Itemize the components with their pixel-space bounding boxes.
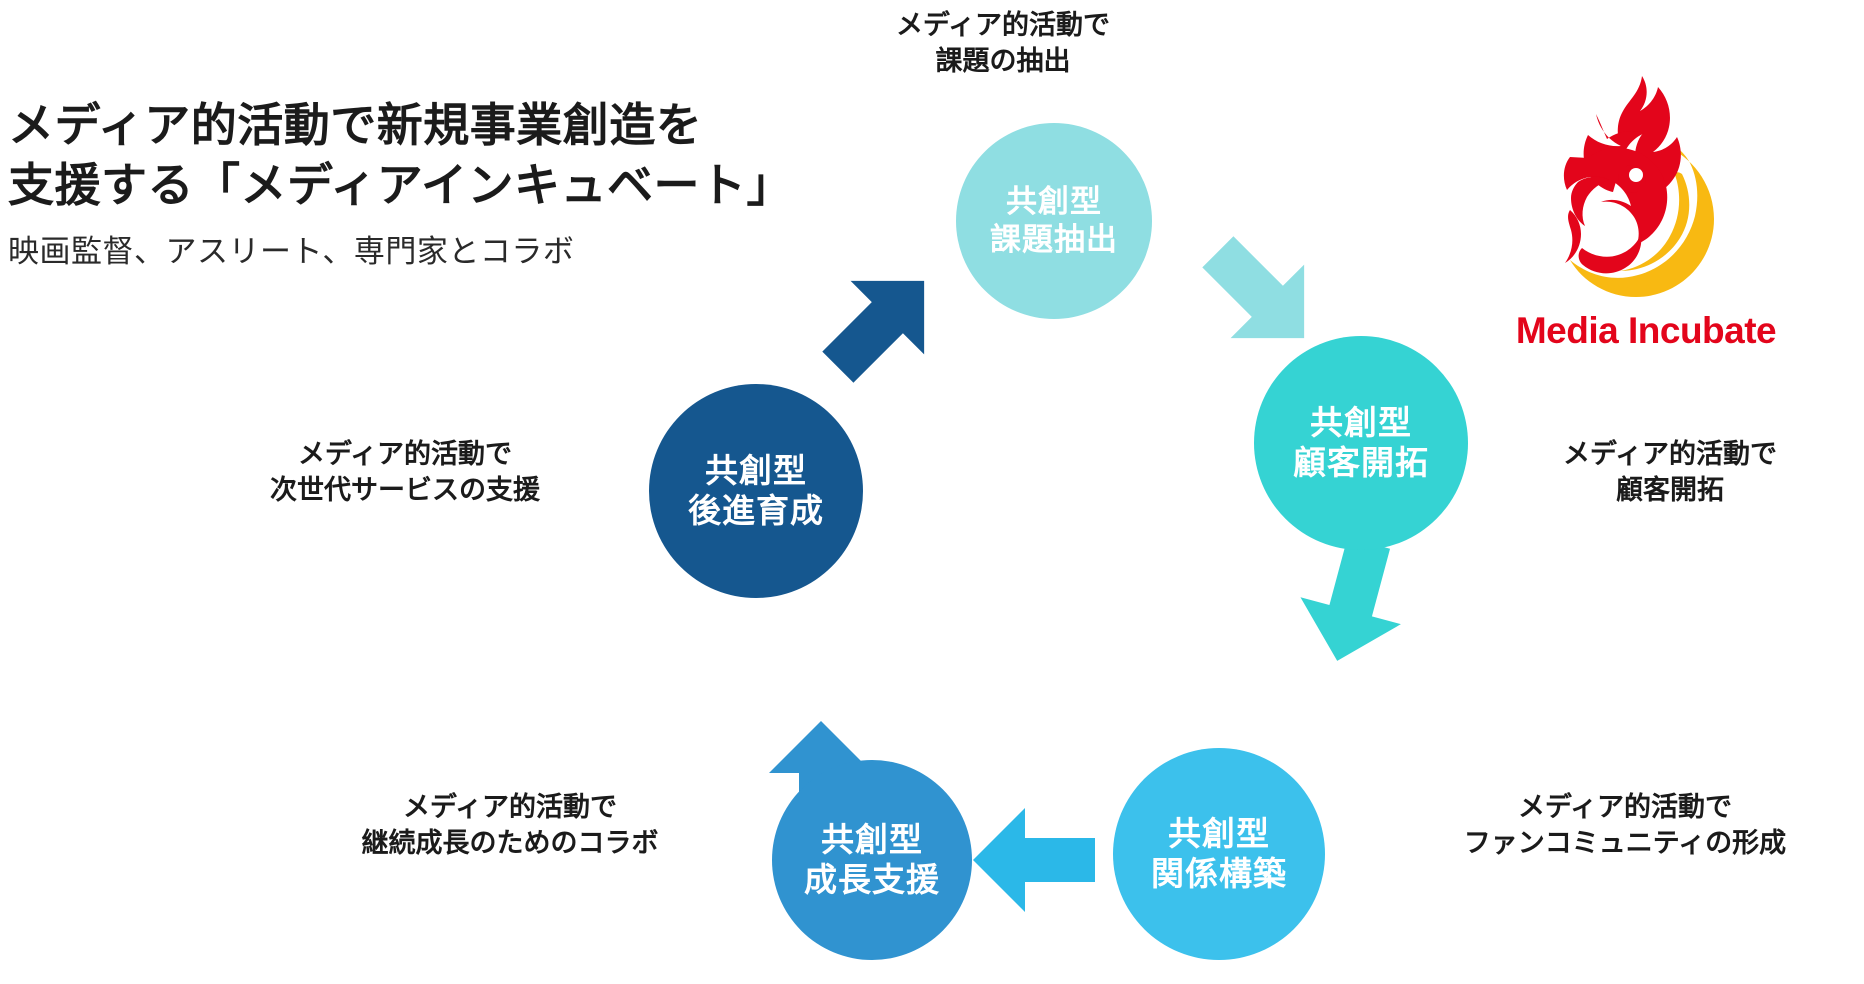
arrow-customer-to-relation [1287,530,1419,675]
arrow-relation-to-growth [973,808,1095,912]
caption-issue-line2: 課題の抽出 [778,44,1228,80]
cycle-node-customer[interactable]: 共創型 顧客開拓 [1254,336,1468,550]
node-customer-line1: 共創型 [1310,403,1412,443]
page-title-line-1: メディア的活動で新規事業創造を [8,96,908,156]
caption-relation-line1: メディア的活動で [1390,790,1860,826]
page-title-line-2: 支援する「メディアインキュベート」 [8,156,908,216]
caption-mentoring-line2: 次世代サービスの支援 [170,473,640,509]
node-relation-line1: 共創型 [1168,814,1270,854]
node-mentoring-line2: 後進育成 [688,491,824,531]
brand-logo: Media Incubate [1486,62,1806,362]
page-subtitle: 映画監督、アスリート、専門家とコラボ [8,232,908,272]
logo-wordmark: Media Incubate [1486,310,1806,352]
caption-growth: メディア的活動で 継続成長のためのコラボ [260,790,760,862]
rooster-flame-icon [1522,62,1770,310]
caption-customer-line2: 顧客開拓 [1480,473,1860,509]
node-growth-line1: 共創型 [821,820,923,860]
caption-growth-line1: メディア的活動で [260,790,760,826]
cycle-node-issue[interactable]: 共創型 課題抽出 [956,123,1152,319]
caption-customer-line1: メディア的活動で [1480,437,1860,473]
cycle-node-relation[interactable]: 共創型 関係構築 [1113,748,1325,960]
caption-mentoring-line1: メディア的活動で [170,437,640,473]
node-mentoring-line1: 共創型 [705,451,807,491]
infographic-canvas: メディア的活動で新規事業創造を 支援する「メディアインキュベート」 映画監督、ア… [0,0,1864,984]
node-customer-line2: 顧客開拓 [1293,443,1429,483]
node-growth-line2: 成長支援 [804,860,940,900]
caption-relation-line2: ファンコミュニティの形成 [1390,826,1860,862]
caption-issue-line1: メディア的活動で [778,8,1228,44]
node-issue-line2: 課題抽出 [990,221,1118,259]
caption-issue: メディア的活動で 課題の抽出 [778,8,1228,80]
caption-relation: メディア的活動で ファンコミュニティの形成 [1390,790,1860,862]
cycle-node-mentoring[interactable]: 共創型 後進育成 [649,384,863,598]
caption-customer: メディア的活動で 顧客開拓 [1480,437,1860,509]
cycle-node-growth[interactable]: 共創型 成長支援 [772,760,972,960]
node-relation-line2: 関係構築 [1151,854,1287,894]
node-issue-line1: 共創型 [1006,183,1102,221]
title-block: メディア的活動で新規事業創造を 支援する「メディアインキュベート」 映画監督、ア… [8,96,908,272]
caption-mentoring: メディア的活動で 次世代サービスの支援 [170,437,640,509]
caption-growth-line2: 継続成長のためのコラボ [260,826,760,862]
